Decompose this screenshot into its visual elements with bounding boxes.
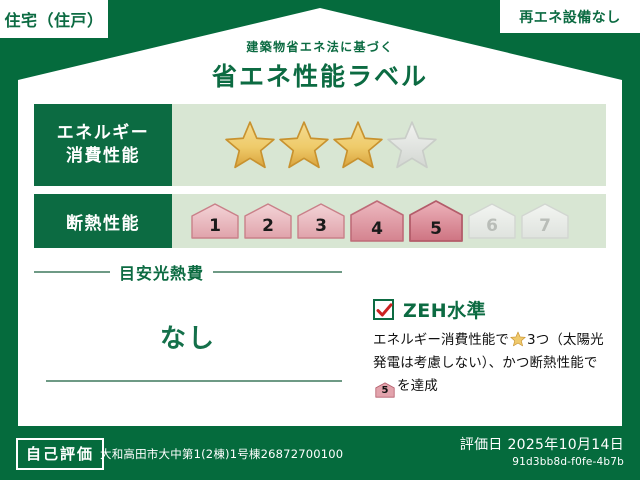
grade-value: 3 — [315, 216, 327, 236]
evaluation-date-label: 評価日 — [460, 437, 503, 453]
insulation-grade-chip: 2 — [243, 202, 293, 240]
label-footer: 自己評価 大和高田市大中第1(2棟)1号棟26872700100 評価日 202… — [0, 426, 640, 480]
label-title: 建築物省エネ法に基づく 省エネ性能ラベル — [0, 38, 640, 93]
zeh-section: ZEH水準 エネルギー消費性能で3つ（太陽光発電は考慮しない）、かつ断熱性能で5… — [343, 258, 606, 420]
inline-grade-chip: 5 — [375, 382, 395, 398]
energy-performance-row: エネルギー 消費性能 — [34, 104, 606, 186]
insulation-performance-label-box: 断熱性能 — [34, 194, 172, 248]
utility-cost-title: 目安光熱費 — [119, 260, 204, 284]
star-empty-icon — [386, 120, 438, 170]
insulation-key: 断熱性能 — [66, 209, 140, 234]
divider-right — [213, 271, 342, 273]
star-rating — [224, 120, 438, 170]
star-filled-icon — [224, 120, 276, 170]
zeh-title: ZEH水準 — [403, 296, 486, 323]
zeh-checkbox[interactable] — [373, 299, 394, 320]
renewable-energy-tag: 再エネ設備なし — [500, 0, 640, 33]
zeh-description: エネルギー消費性能で3つ（太陽光発電は考慮しない）、かつ断熱性能で5を達成 — [373, 329, 606, 399]
inline-grade-value: 5 — [375, 382, 395, 400]
check-icon — [376, 302, 393, 319]
grade-value: 4 — [371, 219, 383, 239]
grade-value: 2 — [262, 216, 274, 236]
insulation-grade-chip: 3 — [296, 202, 346, 240]
grade-value: 6 — [486, 216, 498, 236]
zeh-header: ZEH水準 — [373, 296, 606, 323]
zeh-desc-part1: エネルギー消費性能で — [373, 332, 509, 348]
star-filled-icon — [278, 120, 330, 170]
insulation-grade-scale: 1 2 3 — [190, 199, 570, 243]
inline-star-icon — [510, 331, 526, 347]
property-address: 大和高田市大中第1(2棟)1号棟26872700100 — [100, 446, 343, 462]
grade-value: 7 — [539, 216, 551, 236]
grade-value: 5 — [430, 219, 442, 239]
evaluation-date-value: 2025年10月14日 — [507, 437, 624, 453]
utility-cost-header: 目安光熱費 — [34, 260, 342, 284]
energy-performance-label: 住宅（住戸） 再エネ設備なし 建築物省エネ法に基づく 省エネ性能ラベル エネルギ… — [0, 0, 640, 480]
insulation-performance-row: 断熱性能 1 — [34, 194, 606, 248]
star-filled-icon — [332, 120, 384, 170]
bottom-divider — [46, 380, 342, 382]
energy-key-line1: エネルギー — [57, 122, 150, 145]
utility-cost-section: 目安光熱費 なし — [34, 258, 342, 420]
insulation-grade-chip: 6 — [467, 202, 517, 240]
zeh-desc-part3: を達成 — [397, 378, 438, 394]
evaluation-id: 91d3bb8d-f0fe-4b7b — [512, 456, 624, 468]
lower-section: 目安光熱費 なし ZEH水準 エネルギー消費性能で3つ（太陽光発電は考慮しない）… — [34, 258, 606, 420]
self-evaluation-badge: 自己評価 — [16, 438, 104, 470]
divider-left — [34, 271, 110, 273]
insulation-grade-chip-achieved: 5 — [408, 199, 464, 243]
insulation-grade-chip: 4 — [349, 199, 405, 243]
utility-cost-value: なし — [34, 318, 342, 355]
grade-value: 1 — [209, 216, 221, 236]
insulation-grade-chip: 7 — [520, 202, 570, 240]
insulation-grade-chip: 1 — [190, 202, 240, 240]
insulation-performance-value: 1 2 3 — [172, 194, 606, 248]
building-type-tag: 住宅（住戸） — [0, 0, 108, 38]
energy-performance-value — [172, 104, 606, 186]
evaluation-date: 評価日 2025年10月14日 — [460, 434, 624, 454]
energy-performance-label-box: エネルギー 消費性能 — [34, 104, 172, 186]
main-panel: エネルギー 消費性能 — [18, 88, 622, 426]
energy-key-line2: 消費性能 — [66, 145, 140, 168]
title-subtitle: 建築物省エネ法に基づく — [0, 38, 640, 55]
